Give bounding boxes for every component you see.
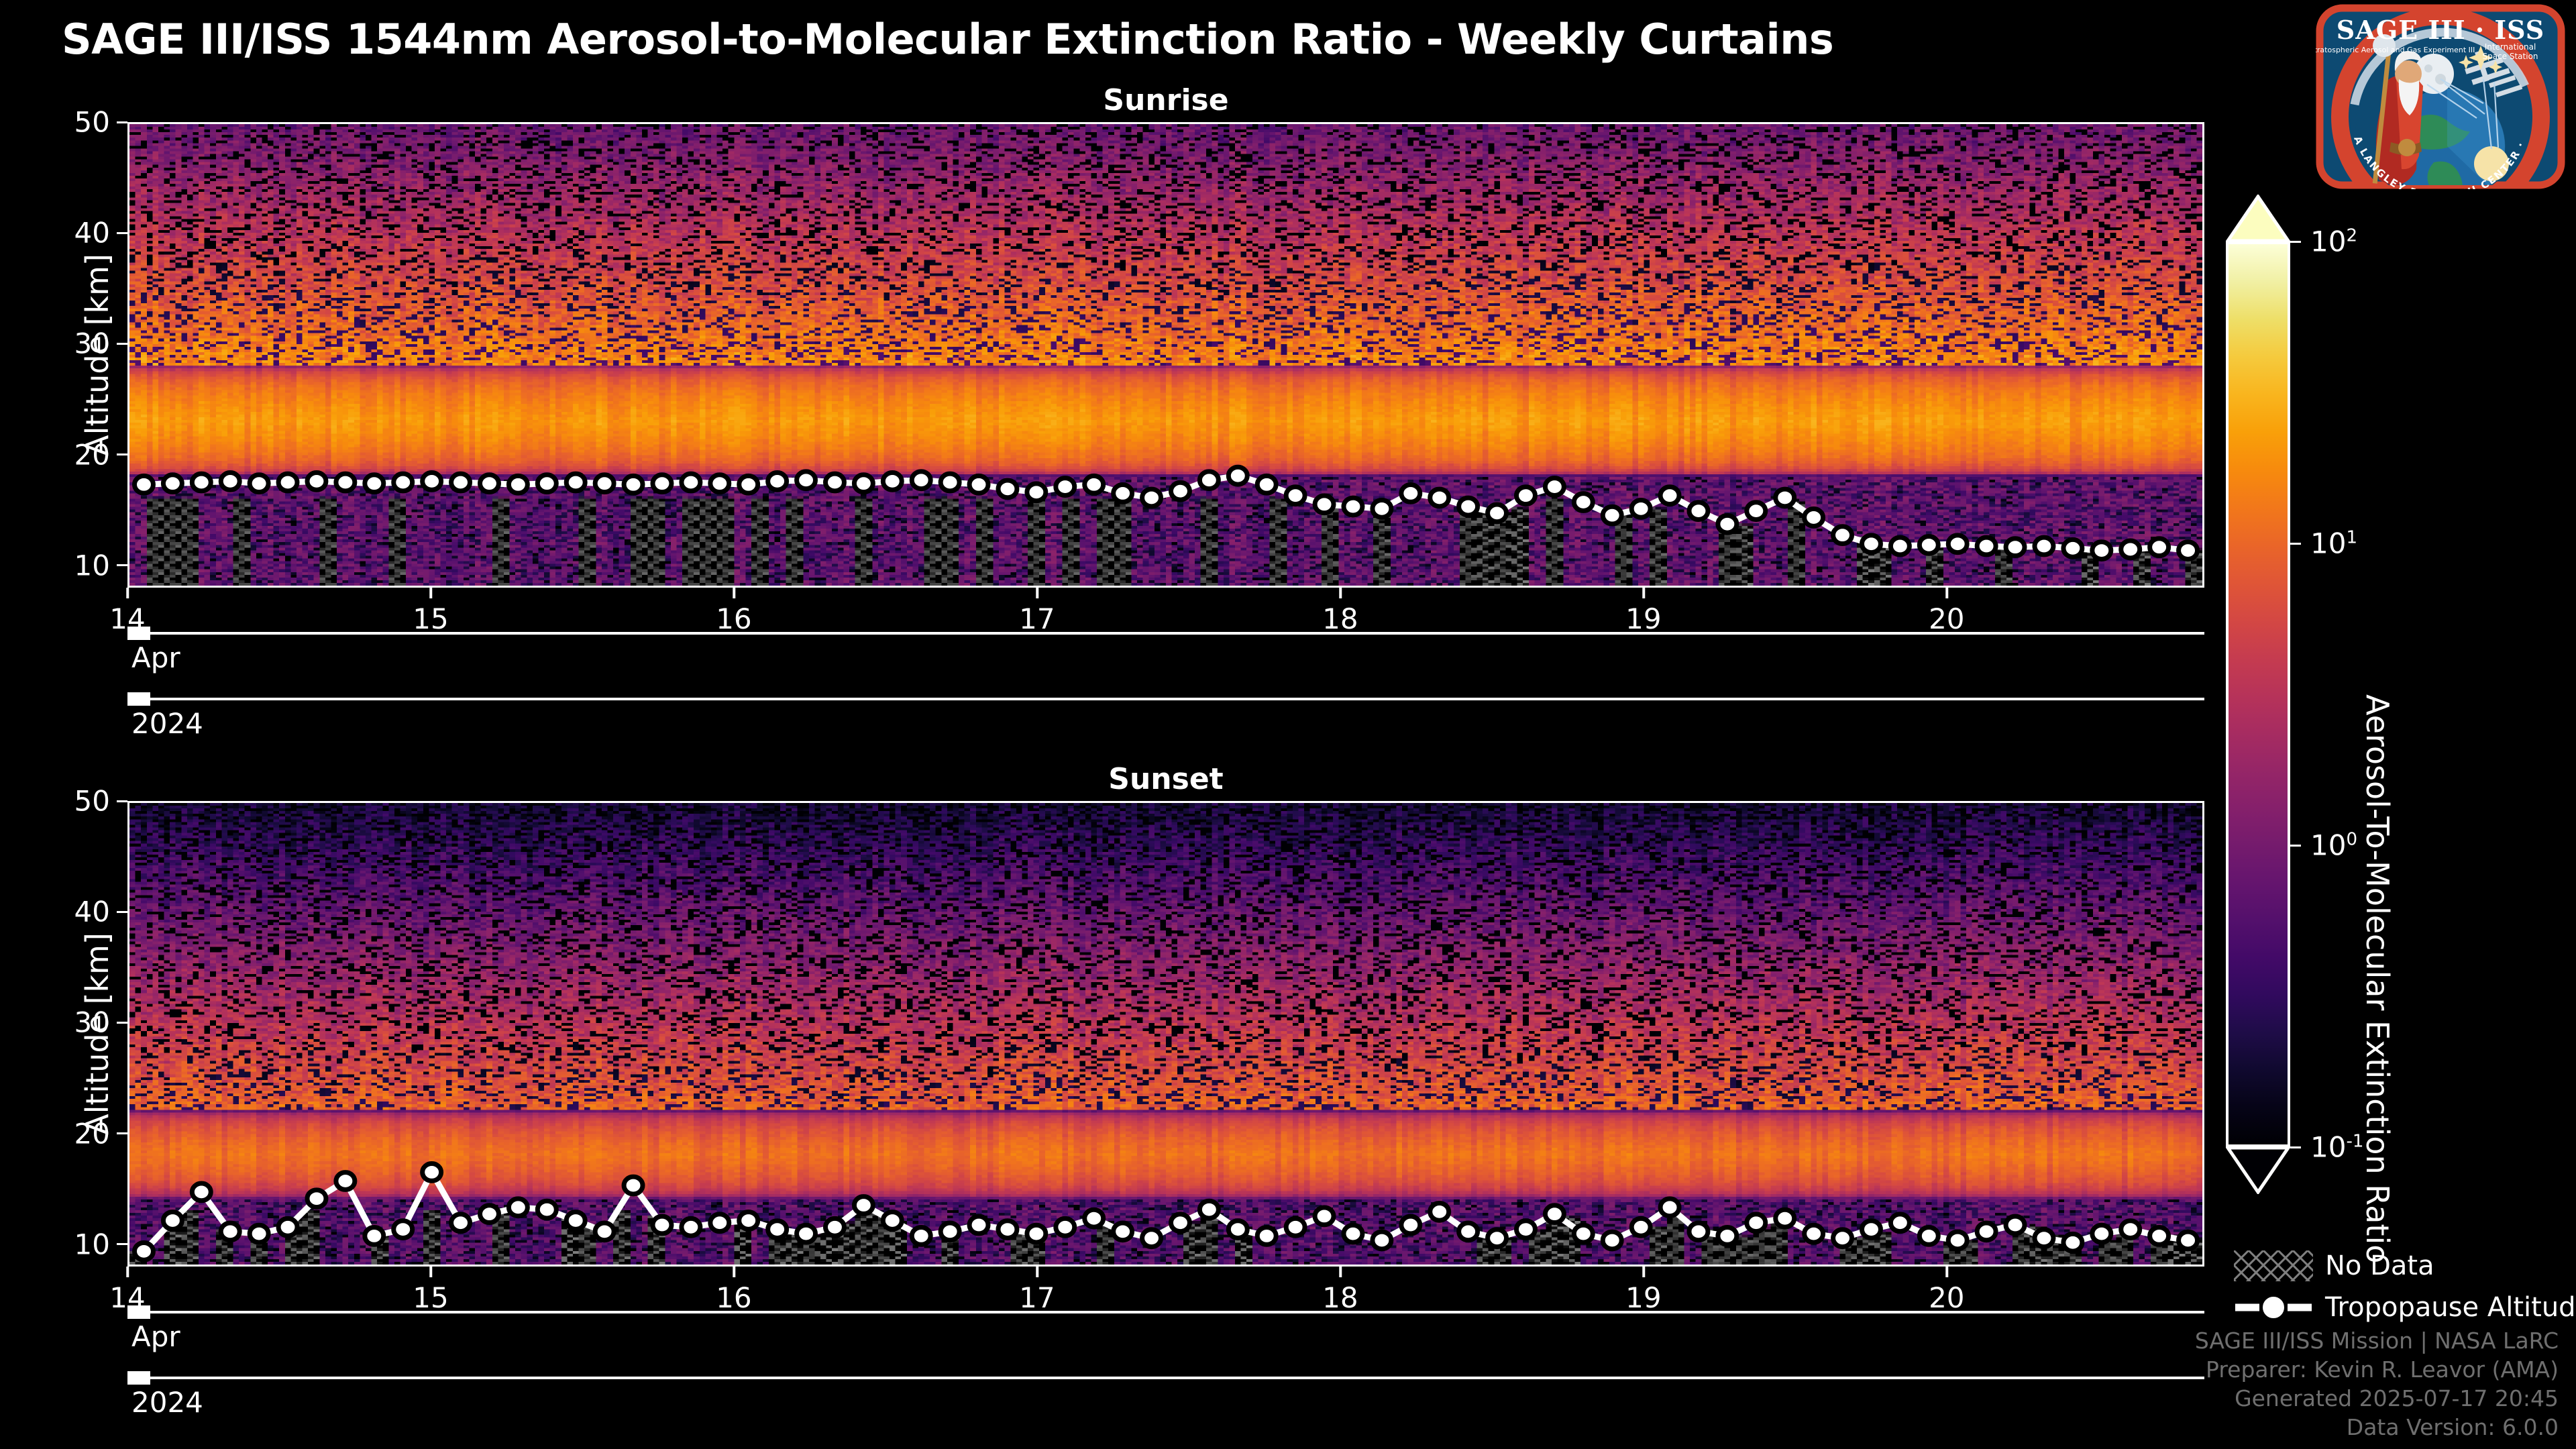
panel-sunrise-ytick-3: 40	[74, 217, 127, 250]
tropopause-marker	[1516, 1221, 1535, 1238]
tropopause-marker	[1257, 476, 1276, 493]
panel-sunrise-xtick-6: 20	[1929, 602, 1964, 635]
panel-sunset-xtick-6: 20	[1929, 1281, 1964, 1314]
tropopause-marker	[423, 1164, 441, 1181]
tropopause-marker	[941, 474, 959, 491]
tropopause-marker	[1199, 1201, 1218, 1218]
footer-credits: SAGE III/ISS Mission | NASA LaRC Prepare…	[2195, 1327, 2559, 1442]
tropopause-marker	[336, 1173, 355, 1190]
tropopause-marker	[1401, 1216, 1420, 1234]
footer-line-mission: SAGE III/ISS Mission | NASA LaRC	[2195, 1327, 2559, 1356]
tropopause-marker	[1199, 472, 1218, 489]
tropopause-marker	[653, 475, 672, 492]
tropopause-marker	[1315, 1207, 1334, 1225]
tropopause-marker	[1142, 489, 1161, 506]
panel-sunset-title: Sunset	[127, 762, 2204, 796]
tropopause-marker	[307, 472, 326, 490]
tropopause-marker	[883, 1212, 902, 1230]
tropopause-marker	[1776, 1210, 1794, 1227]
tropopause-marker	[1142, 1230, 1161, 1247]
panel-sunset-xtick-2: 16	[716, 1281, 751, 1314]
tropopause-marker	[1603, 1232, 1621, 1249]
tropopause-marker	[278, 474, 297, 491]
tropopause-marker	[653, 1216, 672, 1234]
tropopause-marker	[2121, 541, 2140, 558]
tropopause-marker	[163, 1212, 182, 1230]
year-level-nub	[127, 692, 150, 706]
panel-sunrise-year-level: 2024	[127, 698, 2204, 700]
panel-sunset-xtick-3: 17	[1019, 1281, 1055, 1314]
tropopause-marker	[134, 1242, 153, 1260]
logo-moon-crater-1	[2424, 64, 2432, 72]
tropopause-marker	[1833, 527, 1852, 544]
tropopause-marker	[682, 474, 700, 491]
tropopause-marker	[1459, 498, 1478, 515]
colorbar-tick-1: 101	[2290, 527, 2357, 560]
tropopause-marker	[480, 475, 498, 492]
tropopause-marker	[1373, 1232, 1391, 1249]
panel-sunrise-month-level: Apr	[127, 632, 2204, 635]
tropopause-marker	[1948, 535, 1967, 553]
tropopause-marker	[2150, 1228, 2169, 1245]
tropopause-marker	[1660, 1199, 1679, 1216]
tropopause-marker	[365, 1228, 384, 1245]
panel-sunset: Sunset Altitude [km] 1020304050 14151617…	[127, 801, 2204, 1267]
tropopause-marker	[768, 472, 787, 490]
panel-sunrise-ytick-2: 30	[74, 327, 127, 360]
month-level-label: Apr	[131, 1320, 180, 1353]
panel-sunrise-xtick-1: 15	[413, 602, 448, 635]
tropopause-marker	[1948, 1232, 1967, 1249]
tropopause-marker	[969, 476, 988, 493]
tropopause-marker	[1776, 489, 1794, 506]
tropopause-marker	[682, 1218, 700, 1236]
tropopause-marker	[1747, 502, 1766, 520]
logo-subtitle-left: Stratospheric Aerosol and Gas Experiment…	[2316, 46, 2475, 54]
logo-subtitle-right-2: Space Station	[2482, 52, 2538, 61]
tropopause-marker	[451, 474, 470, 491]
panel-sunset-ytick-1: 20	[74, 1117, 127, 1150]
tropopause-marker	[508, 1199, 527, 1216]
tropopause-marker	[480, 1205, 498, 1223]
tropopause-marker	[2063, 1234, 2082, 1251]
panel-sunset-xtick-5: 19	[1625, 1281, 1661, 1314]
tropopause-marker	[739, 476, 758, 493]
tropopause-marker	[2150, 539, 2169, 556]
tropopause-marker	[394, 1221, 413, 1238]
tropopause-marker	[941, 1223, 959, 1240]
tropopause-marker	[1631, 500, 1650, 517]
tropopause-marker	[1631, 1218, 1650, 1236]
month-level-label: Apr	[131, 641, 180, 674]
tropopause-marker	[1545, 1205, 1564, 1223]
tropopause-marker	[1027, 1225, 1046, 1242]
tropopause-marker	[1977, 537, 1996, 555]
colorbar[interactable]: 10210110010-1 Aerosol-To-Molecular Extin…	[2226, 195, 2290, 1194]
panel-sunrise-ytick-4: 50	[74, 106, 127, 139]
tropopause-marker	[1430, 489, 1449, 506]
tropopause-marker	[1488, 1230, 1507, 1247]
tropopause-marker	[1228, 1221, 1247, 1238]
tropopause-marker	[278, 1218, 297, 1236]
panel-sunset-xtick-1: 15	[413, 1281, 448, 1314]
tropopause-marker	[1516, 487, 1535, 504]
panel-sunrise-ytick-1: 20	[74, 438, 127, 471]
tropopause-marker	[1747, 1214, 1766, 1232]
tropopause-marker	[768, 1221, 787, 1238]
tropopause-marker	[1459, 1223, 1478, 1240]
panel-sunrise-xtick-5: 19	[1625, 602, 1661, 635]
tropopause-marker	[1805, 1225, 1823, 1242]
tropopause-marker	[1545, 478, 1564, 496]
tropopause-marker	[595, 475, 614, 492]
tropopause-marker	[1373, 500, 1391, 517]
tropopause-marker	[797, 1225, 816, 1242]
tropopause-marker	[1315, 496, 1334, 513]
panel-sunrise-xtick-4: 18	[1322, 602, 1358, 635]
legend-item-tropopause[interactable]: Tropopause Altitude	[2234, 1287, 2576, 1328]
tropopause-marker	[1114, 485, 1132, 502]
tropopause-marker	[1890, 1214, 1909, 1232]
tropopause-marker	[1890, 537, 1909, 555]
colorbar-label: Aerosol-To-Molecular Extinction Ratio	[2359, 694, 2396, 1263]
year-level-label: 2024	[131, 707, 203, 740]
tropopause-marker	[1171, 1214, 1189, 1232]
tropopause-marker	[1171, 482, 1189, 500]
tropopause-line	[144, 1172, 2188, 1251]
page-title: SAGE III/ISS 1544nm Aerosol-to-Molecular…	[62, 15, 1833, 64]
panel-sunset-ytick-4: 50	[74, 785, 127, 818]
tropopause-marker	[1085, 1210, 1104, 1227]
tropopause-marker	[1286, 1218, 1305, 1236]
tropopause-marker	[2035, 1230, 2053, 1247]
tropopause-marker	[365, 475, 384, 492]
panel-sunrise-axes[interactable]	[127, 122, 2204, 588]
colorbar-tick-2: 100	[2290, 829, 2357, 862]
panel-sunrise-tropopause	[129, 124, 2202, 586]
panel-sunrise: Sunrise Altitude [km] 1020304050 1415161…	[127, 122, 2204, 588]
tropopause-marker	[1689, 1223, 1708, 1240]
tropopause-marker	[566, 474, 585, 491]
tropopause-marker	[825, 474, 844, 491]
tropopause-marker	[624, 1177, 643, 1194]
tropopause-marker	[394, 474, 413, 491]
panel-sunset-tropopause	[129, 803, 2202, 1265]
tropopause-marker	[1430, 1203, 1449, 1220]
logo-subtitle-right-1: International	[2485, 42, 2536, 52]
tropopause-marker	[998, 480, 1017, 498]
footer-line-preparer: Preparer: Kevin R. Leavor (AMA)	[2195, 1356, 2559, 1385]
tropopause-marker	[566, 1212, 585, 1230]
tropopause-marker	[1085, 476, 1104, 493]
footer-line-version: Data Version: 6.0.0	[2195, 1413, 2559, 1442]
tropopause-marker	[883, 472, 902, 490]
panel-sunset-xtick-4: 18	[1322, 1281, 1358, 1314]
colorbar-gradient	[2229, 244, 2288, 1144]
footer-line-generated: Generated 2025-07-17 20:45	[2195, 1385, 2559, 1413]
panel-sunrise-xtick-2: 16	[716, 602, 751, 635]
logo-title: SAGE III · ISS	[2337, 15, 2544, 45]
tropopause-marker	[537, 475, 556, 492]
tropopause-marker	[710, 475, 729, 492]
sage-iii-iss-logo: SAGE III · ISS Stratospheric Aerosol and…	[2316, 4, 2565, 189]
tropopause-marker	[1027, 484, 1046, 501]
month-level-nub	[127, 627, 150, 640]
tropopause-marker	[1344, 498, 1362, 515]
tropopause-marker	[1344, 1225, 1362, 1242]
tropopause-marker	[1257, 1228, 1276, 1245]
tropopause-marker	[221, 472, 239, 490]
tropopause-marker	[2179, 1232, 2198, 1249]
tropopause-marker	[595, 1223, 614, 1240]
tropopause-marker	[1862, 1221, 1880, 1238]
tropopause-marker	[2063, 539, 2082, 557]
colorbar-gradient-body	[2226, 241, 2290, 1147]
tropopause-marker	[2092, 1225, 2111, 1242]
panel-sunset-ytick-3: 40	[74, 896, 127, 928]
legend: No Data Tropopause Altitude	[2234, 1245, 2576, 1328]
month-level-nub	[127, 1305, 150, 1319]
tropopause-marker	[451, 1214, 470, 1232]
panel-sunrise-title: Sunrise	[127, 83, 2204, 117]
tropopause-marker	[1056, 1218, 1075, 1236]
panel-sunset-year-level: 2024	[127, 1377, 2204, 1379]
tropopause-marker	[1114, 1223, 1132, 1240]
colorbar-extend-bottom	[2226, 1146, 2290, 1194]
tropopause-marker	[2092, 542, 2111, 559]
panel-sunset-month-level: Apr	[127, 1311, 2204, 1313]
tropopause-marker	[2006, 539, 2025, 556]
year-level-label: 2024	[131, 1386, 203, 1419]
tropopause-marker	[1718, 515, 1737, 533]
panel-sunset-ytick-2: 30	[74, 1006, 127, 1039]
tropopause-marker	[1603, 506, 1621, 524]
tropopause-marker	[537, 1201, 556, 1218]
tropopause-marker	[2035, 537, 2053, 555]
tropopause-marker	[423, 472, 441, 490]
tropopause-marker	[1805, 509, 1823, 527]
tropopause-marker	[1574, 494, 1593, 511]
tropopause-marker	[998, 1221, 1017, 1238]
tropopause-marker	[1862, 535, 1880, 553]
figure-canvas: SAGE III/ISS 1544nm Aerosol-to-Molecular…	[0, 0, 2576, 1449]
tropopause-marker	[192, 1183, 211, 1201]
tropopause-marker	[1056, 478, 1075, 496]
tropopause-marker	[1689, 502, 1708, 520]
tropopause-marker	[336, 474, 355, 491]
panel-sunset-axes[interactable]	[127, 801, 2204, 1267]
tropopause-marker	[2121, 1221, 2140, 1238]
tropopause-marker	[1574, 1225, 1593, 1242]
tropopause-marker	[221, 1223, 239, 1240]
tropopause-marker	[1919, 537, 1938, 554]
tropopause-marker	[2179, 542, 2198, 559]
colorbar-extend-top	[2226, 195, 2290, 243]
tropopause-marker	[192, 474, 211, 491]
tropopause-marker	[624, 476, 643, 493]
tropopause-marker	[134, 476, 153, 493]
tropopause-marker	[739, 1212, 758, 1230]
year-level-nub	[127, 1371, 150, 1385]
tropopause-marker	[508, 476, 527, 493]
tropopause-marker	[854, 475, 873, 492]
tropopause-marker	[163, 475, 182, 492]
panel-sunrise-ytick-0: 10	[74, 549, 127, 582]
no-data-hatch-icon	[2234, 1250, 2313, 1281]
panel-sunrise-xtick-3: 17	[1019, 602, 1055, 635]
colorbar-tick-0: 102	[2290, 225, 2357, 258]
tropopause-marker	[825, 1218, 844, 1236]
colorbar-tick-3: 10-1	[2290, 1131, 2363, 1164]
tropopause-marker	[1228, 467, 1247, 484]
tropopause-marker	[307, 1190, 326, 1207]
panel-sunset-ytick-0: 10	[74, 1228, 127, 1260]
legend-label-tropopause: Tropopause Altitude	[2325, 1292, 2576, 1323]
tropopause-marker-icon	[2234, 1292, 2313, 1323]
tropopause-marker	[969, 1216, 988, 1234]
legend-item-no-data[interactable]: No Data	[2234, 1245, 2576, 1287]
tropopause-marker	[912, 472, 930, 489]
tropopause-marker	[854, 1197, 873, 1214]
tropopause-marker	[1401, 485, 1420, 502]
tropopause-marker	[250, 1225, 268, 1242]
tropopause-marker	[1488, 504, 1507, 522]
tropopause-marker	[1977, 1223, 1996, 1240]
tropopause-marker	[1718, 1228, 1737, 1245]
tropopause-marker	[912, 1228, 930, 1245]
tropopause-marker	[1919, 1228, 1938, 1245]
tropopause-marker	[250, 475, 268, 492]
tropopause-marker	[1286, 487, 1305, 504]
tropopause-marker	[797, 472, 816, 489]
legend-label-no-data: No Data	[2325, 1250, 2434, 1281]
tropopause-marker	[1833, 1230, 1852, 1247]
tropopause-marker	[2006, 1216, 2025, 1234]
tropopause-marker	[710, 1214, 729, 1232]
tropopause-marker	[1660, 487, 1679, 504]
